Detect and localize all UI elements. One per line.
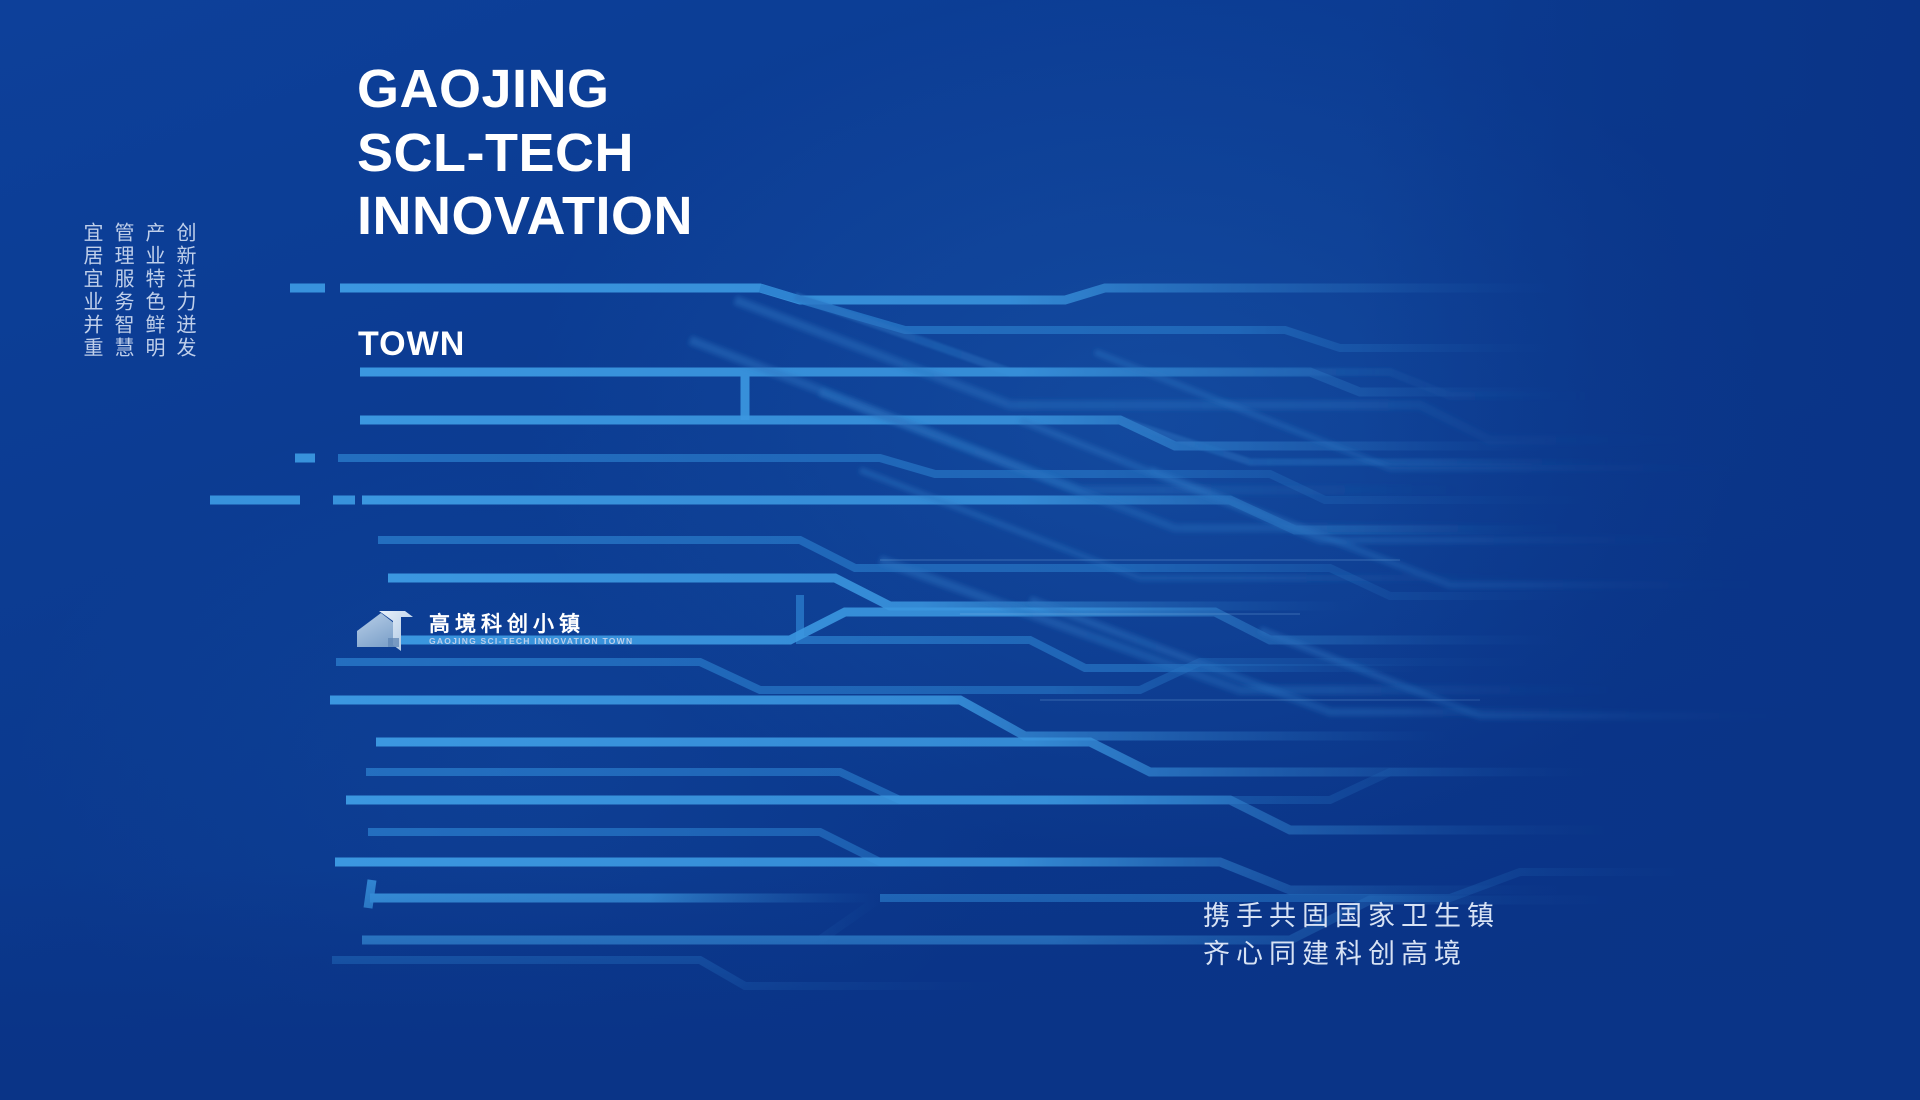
logo-text-block: 高境科创小镇 GAOJING SCI-TECH INNOVATION TOWN (429, 614, 633, 646)
logo-english-name: GAOJING SCI-TECH INNOVATION TOWN (429, 637, 633, 646)
vertical-slogan-col-3: 管理服务智慧 (113, 222, 133, 360)
poster-canvas: GAOJING SCL-TECH INNOVATION TOWN 创新活力迸发 … (0, 0, 1920, 1100)
bottom-right-slogan: 携手共固国家卫生镇 齐心同建科创高境 (1203, 898, 1500, 975)
vertical-slogan-col-4: 宜居宜业并重 (82, 222, 102, 360)
poster-headline: GAOJING SCL-TECH INNOVATION (357, 58, 693, 249)
bottom-slogan-line-2: 齐心同建科创高境 (1203, 936, 1500, 974)
headline-line-2: SCL-TECH (357, 122, 693, 186)
headline-line-1: GAOJING (357, 58, 693, 122)
logo-chinese-name: 高境科创小镇 (429, 614, 633, 635)
bottom-slogan-line-1: 携手共固国家卫生镇 (1203, 898, 1500, 936)
headline-line-4-town: TOWN (358, 325, 465, 364)
headline-line-3: INNOVATION (357, 185, 693, 249)
vertical-slogan-block: 创新活力迸发 产业特色鲜明 管理服务智慧 宜居宜业并重 (82, 222, 195, 360)
house-roof-icon (355, 605, 417, 655)
vertical-slogan-col-2: 产业特色鲜明 (144, 222, 164, 360)
brand-logo-lockup: 高境科创小镇 GAOJING SCI-TECH INNOVATION TOWN (355, 605, 633, 655)
circuit-trace-artwork (0, 0, 1920, 1100)
vertical-slogan-col-1: 创新活力迸发 (175, 222, 195, 360)
